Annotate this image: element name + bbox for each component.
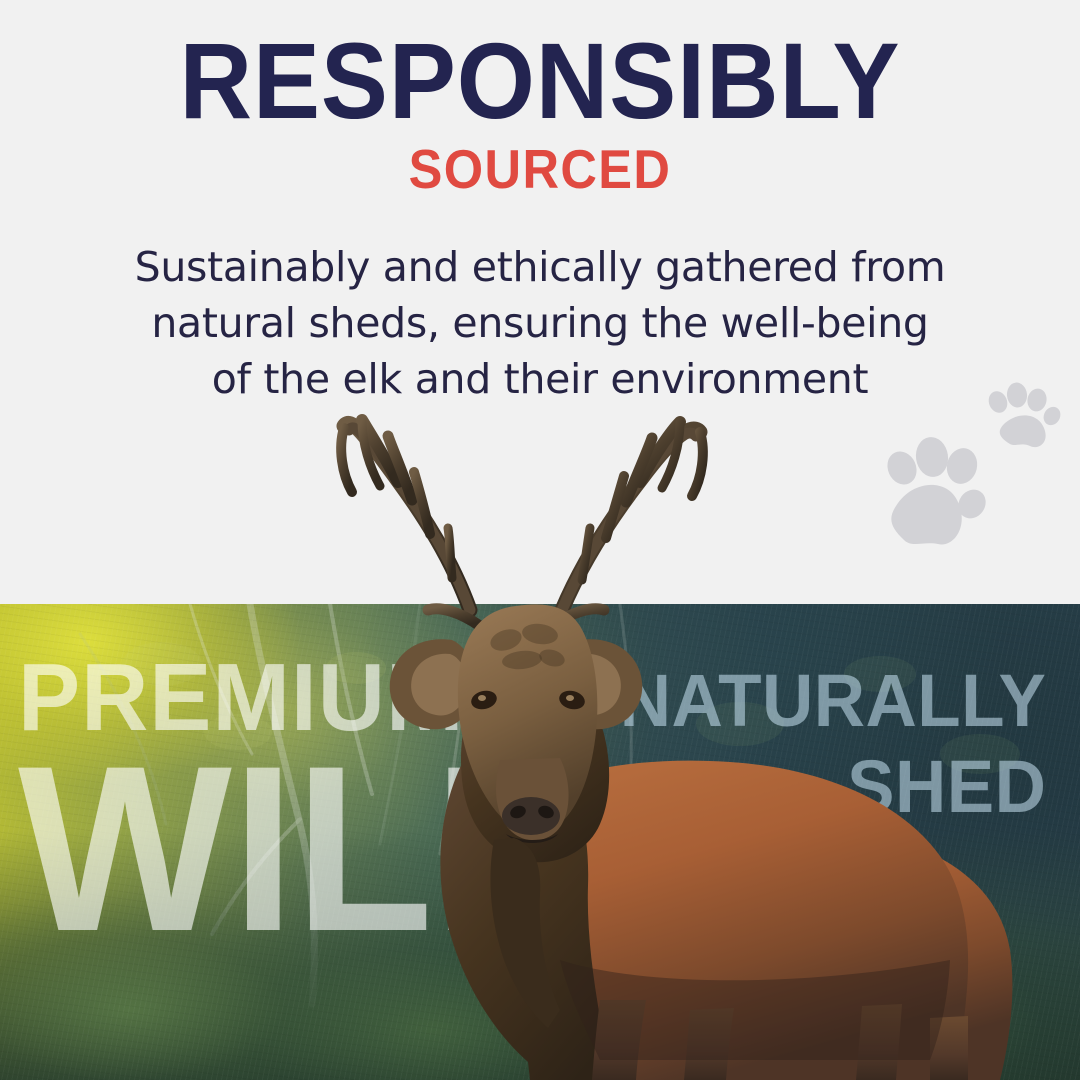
overlay-text-left: PREMIUM WILD	[18, 656, 621, 954]
paw-print-small-icon	[986, 382, 1064, 448]
page-title: RESPONSIBLY	[38, 30, 1042, 133]
description-line-3: of the elk and their environment	[90, 352, 990, 408]
overlay-word-naturally: NATURALLY	[619, 666, 1046, 736]
paw-prints-decoration	[880, 380, 1080, 580]
page-subtitle: SOURCED	[43, 141, 1037, 199]
forest-photo-band: PREMIUM WILD NATURALLY SHED	[0, 604, 1080, 1080]
overlay-word-shed: SHED	[619, 752, 1046, 822]
headline-block: RESPONSIBLY SOURCED	[0, 30, 1080, 198]
description-line-1: Sustainably and ethically gathered from	[90, 240, 990, 296]
description-line-2: natural sheds, ensuring the well-being	[90, 296, 990, 352]
poster-canvas: RESPONSIBLY SOURCED Sustainably and ethi…	[0, 0, 1080, 1080]
overlay-text-right: NATURALLY SHED	[602, 666, 1046, 823]
description-text: Sustainably and ethically gathered from …	[90, 240, 990, 407]
paw-print-large-icon	[882, 435, 991, 544]
overlay-word-wild: WILD	[18, 746, 597, 954]
